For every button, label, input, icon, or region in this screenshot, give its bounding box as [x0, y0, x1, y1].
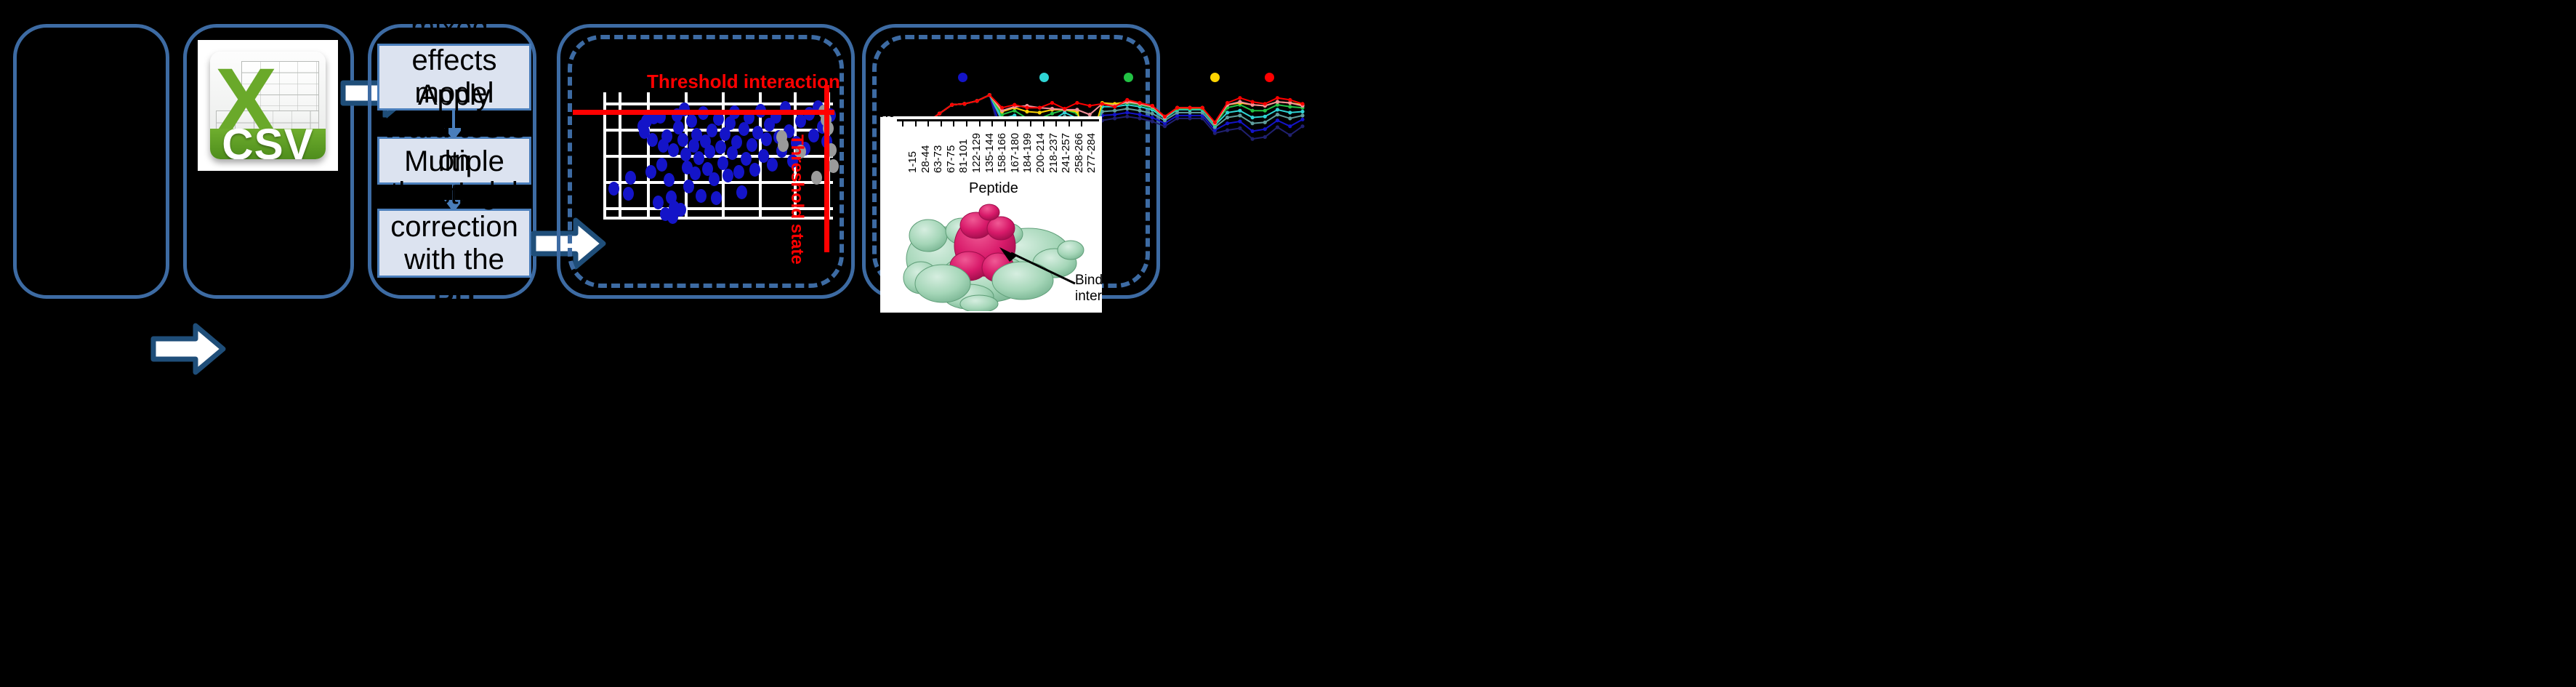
x-axis-tick-label: 241-257	[1060, 133, 1072, 173]
scatter-point	[668, 143, 679, 157]
scatter-point-ns	[811, 171, 822, 185]
line-marker	[1300, 110, 1304, 113]
x-axis-tick-label: 135-144	[983, 133, 996, 173]
x-axis-tick-label: 277-284	[1085, 133, 1098, 173]
line-marker	[1238, 113, 1241, 117]
line-marker	[1263, 121, 1267, 124]
x-axis-tick-label: 258-266	[1073, 133, 1085, 173]
scatter-point	[656, 158, 667, 172]
line-marker	[1151, 112, 1154, 116]
line-marker	[1300, 113, 1304, 117]
line-marker	[1113, 109, 1116, 113]
line-marker	[1300, 124, 1304, 128]
line-marker	[1100, 102, 1104, 105]
line-marker	[1038, 111, 1042, 114]
line-marker	[1225, 129, 1229, 132]
line-marker	[1013, 103, 1016, 107]
line-marker	[1000, 106, 1004, 110]
scatter-point	[661, 129, 672, 143]
line-marker	[1263, 109, 1267, 113]
x-axis-tick	[1055, 119, 1057, 126]
line-marker	[1238, 109, 1241, 113]
x-axis-tick-label: 67-75	[945, 145, 957, 173]
scatter-point	[653, 196, 664, 209]
line-marker	[1151, 116, 1154, 119]
line-marker	[1050, 101, 1054, 105]
series-green-dot	[1124, 73, 1133, 82]
csv-tile: X CSV	[210, 52, 325, 159]
line-marker	[1075, 101, 1079, 105]
scatter-title: Threshold interaction	[647, 71, 840, 93]
line-marker	[1175, 106, 1179, 110]
grid-line-h	[603, 103, 833, 105]
scatter-point	[625, 171, 636, 185]
line-marker	[1025, 106, 1029, 110]
scatter-point	[664, 173, 675, 187]
line-marker	[1238, 100, 1241, 104]
x-axis-tick	[1068, 119, 1070, 126]
line-marker	[1050, 107, 1054, 111]
line-marker	[1213, 121, 1217, 124]
line-marker	[1288, 105, 1292, 108]
scatter-point	[623, 187, 634, 201]
line-marker	[1225, 111, 1229, 114]
line-marker	[1125, 115, 1129, 118]
line-marker	[1251, 100, 1255, 104]
line-marker	[1063, 107, 1066, 111]
x-axis-tick	[927, 119, 929, 126]
x-axis-tick-label: 184-199	[1021, 133, 1034, 173]
series-red-dot	[1265, 73, 1274, 82]
threshold-interaction-line	[573, 110, 834, 115]
input-panel	[13, 24, 169, 299]
line-marker	[938, 112, 941, 116]
scatter-point	[645, 165, 656, 179]
scatter-point	[715, 140, 726, 154]
line-marker	[1276, 100, 1279, 104]
line-marker	[1151, 119, 1154, 123]
x-axis-tick	[1081, 119, 1082, 126]
scatter-point	[683, 180, 694, 193]
line-marker	[1225, 121, 1229, 125]
x-axis-tick-label: 28-44	[919, 145, 932, 173]
arrow-input-to-data	[150, 320, 227, 378]
scatter-point	[723, 169, 733, 182]
x-axis-tick-label: 218-237	[1047, 133, 1060, 173]
scatter-vertical-title: Threshold state	[786, 134, 807, 265]
scatter-point	[761, 132, 772, 146]
line-marker	[1288, 116, 1292, 120]
line-marker	[1276, 125, 1279, 129]
scatter-point	[693, 151, 704, 165]
line-marker	[1188, 106, 1191, 110]
binding-interface-arrow	[995, 246, 1082, 288]
multiple-testing-box[interactable]: Multiple testing correction with the BH …	[377, 209, 531, 278]
scatter-point	[690, 166, 701, 180]
x-axis-tick	[915, 119, 917, 126]
scatter-point	[686, 114, 697, 128]
x-axis-tick	[966, 119, 967, 126]
line-marker	[1251, 116, 1255, 119]
line-marker	[1238, 126, 1241, 130]
scatter-point	[696, 189, 707, 203]
line-marker	[1125, 111, 1129, 114]
line-marker	[1138, 109, 1142, 113]
line-marker	[1263, 115, 1267, 118]
line-marker	[1025, 110, 1029, 113]
series-yellow-dot	[1210, 73, 1220, 82]
threshold-scatter-plot: Threshold interaction	[574, 62, 836, 280]
line-marker	[1138, 113, 1142, 116]
line-marker	[1225, 101, 1229, 105]
line-marker	[1251, 129, 1255, 133]
line-marker	[1075, 108, 1079, 111]
line-marker	[1113, 113, 1116, 116]
x-axis-tick-label: 167-180	[1009, 133, 1021, 173]
scatter-point-ns	[828, 159, 839, 173]
scatter-point	[707, 124, 717, 137]
scatter-point	[731, 135, 742, 149]
x-axis-tick	[941, 119, 942, 126]
scatter-point	[741, 152, 752, 166]
line-marker	[1288, 133, 1292, 137]
x-axis-tick	[902, 119, 903, 126]
line-marker	[1088, 104, 1092, 108]
line-marker	[1288, 111, 1292, 114]
line-marker	[1050, 112, 1054, 116]
x-axis-tick-label: 63-73	[932, 145, 944, 173]
line-marker	[1113, 116, 1116, 120]
line-marker	[1263, 127, 1267, 131]
line-marker	[1163, 115, 1167, 118]
scatter-point	[677, 133, 688, 147]
line-marker	[1251, 137, 1255, 141]
line-marker	[1038, 106, 1042, 110]
line-marker	[1263, 135, 1267, 139]
scatter-point	[667, 210, 678, 224]
csv-x-letter: X	[215, 55, 254, 116]
line-marker	[1263, 102, 1267, 105]
x-axis-tick-label: 1-15	[906, 151, 919, 173]
line-marker	[1225, 116, 1229, 119]
multiple-testing-box-text: Multiple testing correction with the BH …	[387, 145, 522, 341]
scatter-point	[736, 185, 747, 199]
scatter-point	[767, 158, 778, 172]
line-marker	[1201, 106, 1204, 110]
line-marker	[950, 103, 954, 107]
x-axis-tick-label: 122-129	[970, 133, 983, 173]
line-marker	[1300, 118, 1304, 121]
line-marker	[1251, 121, 1255, 125]
scatter-point	[704, 145, 715, 158]
csv-file-icon[interactable]: X CSV	[198, 40, 338, 171]
x-axis-tick-label: 81-101	[957, 139, 970, 173]
line-marker	[1125, 98, 1129, 102]
x-axis-tick-label: 200-214	[1034, 133, 1047, 173]
csv-label-band: CSV	[210, 129, 325, 158]
x-axis-tick	[1005, 119, 1006, 126]
line-marker	[1276, 108, 1279, 111]
binding-interface-annotation: Binding interface	[1075, 273, 1102, 305]
threshold-state-line	[824, 85, 829, 252]
line-marker	[975, 99, 979, 103]
line-marker	[1251, 109, 1255, 113]
results-figure-panel: 0.0 1-1528-4463-7367-7581-101122-129135-…	[880, 116, 1102, 313]
x-axis-tick	[991, 119, 993, 126]
line-marker	[1288, 98, 1292, 102]
scatter-point	[733, 165, 744, 179]
line-marker	[1113, 105, 1116, 108]
x-axis-tick	[953, 119, 954, 126]
x-axis-tick	[1017, 119, 1018, 126]
x-axis-title: Peptide	[969, 180, 1018, 197]
line-marker	[1276, 96, 1279, 100]
series-cyan-dot	[1039, 73, 1049, 82]
line-marker	[962, 102, 966, 105]
line-marker	[1238, 96, 1241, 100]
scatter-point	[749, 163, 760, 177]
line-marker	[988, 93, 991, 97]
x-axis-tick-label: 158-166	[996, 133, 1008, 173]
line-marker	[1300, 102, 1304, 105]
scatter-point	[608, 182, 619, 196]
scatter-point	[709, 172, 720, 186]
x-axis-tick	[1043, 119, 1045, 126]
csv-label: CSV	[222, 119, 313, 159]
line-marker	[1138, 116, 1142, 120]
line-marker	[1238, 119, 1241, 123]
x-axis-tick	[1030, 119, 1031, 126]
scatter-point	[711, 191, 722, 205]
scatter-point	[746, 138, 757, 152]
line-marker	[1288, 124, 1292, 128]
line-marker	[1276, 113, 1279, 116]
x-axis-tick	[979, 119, 981, 126]
series-darkblue-dot	[958, 73, 967, 82]
line-marker	[1151, 104, 1154, 108]
y-axis-tick-0: 0.0	[880, 116, 895, 121]
line-marker	[1138, 101, 1142, 105]
line-marker	[1125, 107, 1129, 111]
scatter-point	[647, 133, 658, 147]
line-marker	[1276, 118, 1279, 122]
